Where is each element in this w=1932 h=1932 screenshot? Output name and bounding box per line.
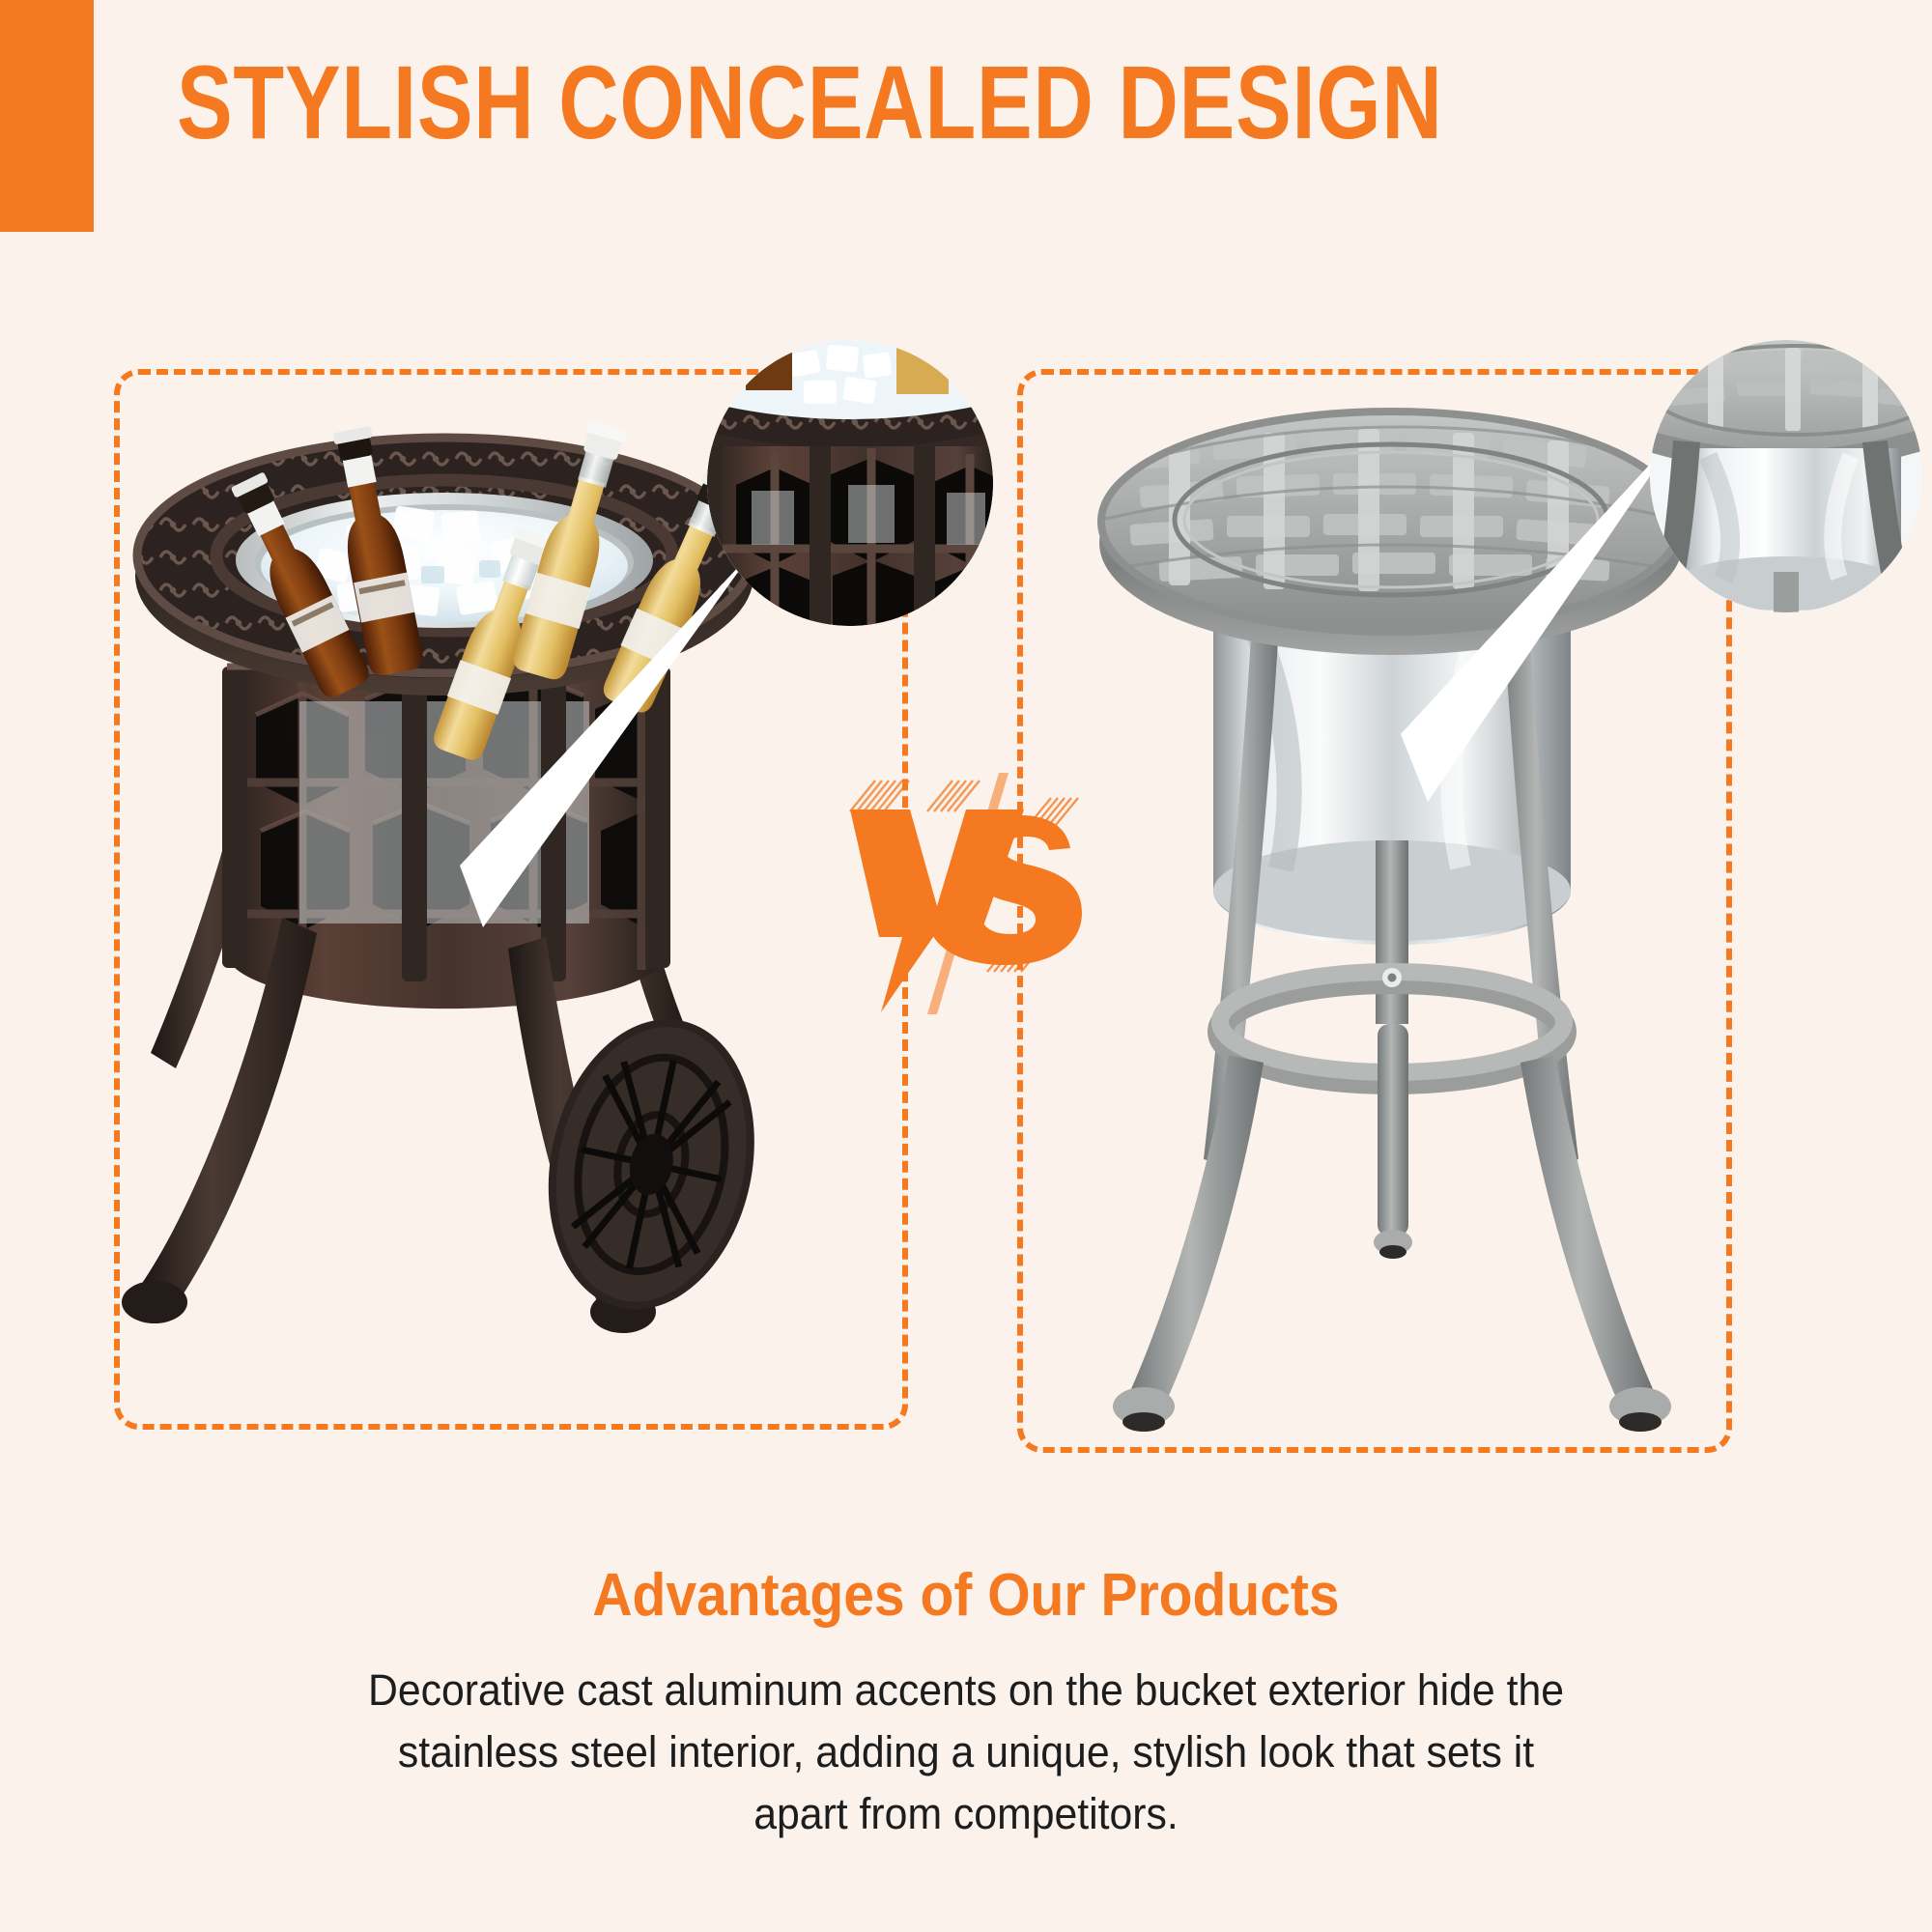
advantages-line-1: Decorative cast aluminum accents on the … (260, 1660, 1673, 1721)
advantages-line-3: apart from competitors. (260, 1783, 1673, 1845)
advantages-body: Decorative cast aluminum accents on the … (260, 1660, 1673, 1845)
header-accent-bar (0, 0, 94, 232)
callout-left-lattice-detail (707, 340, 993, 626)
callout-pointer-right (1256, 425, 1700, 811)
table-lower-legs (1113, 1024, 1671, 1432)
page-title: STYLISH CONCEALED DESIGN (177, 50, 1443, 155)
center-post (1376, 840, 1408, 1024)
advantages-heading: Advantages of Our Products (77, 1561, 1855, 1630)
callout-right-steel-detail (1650, 340, 1922, 612)
callout-pointer-left (367, 541, 773, 947)
vs-badge (833, 773, 1103, 1014)
advantages-line-2: stainless steel interior, adding a uniqu… (260, 1721, 1673, 1783)
header-band: STYLISH CONCEALED DESIGN (0, 0, 1932, 241)
